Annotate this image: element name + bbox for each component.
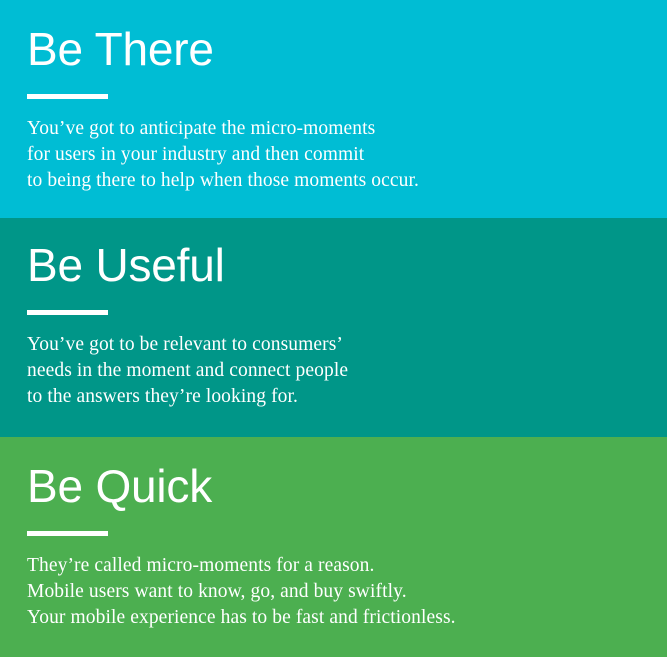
body-line: Your mobile experience has to be fast an… <box>27 605 667 631</box>
panel-be-useful: Be Useful You’ve got to be relevant to c… <box>0 218 667 437</box>
body-line: for users in your industry and then comm… <box>27 142 667 168</box>
body-line: You’ve got to anticipate the micro-momen… <box>27 116 667 142</box>
panel-be-quick-heading: Be Quick <box>27 437 667 509</box>
body-line: Mobile users want to know, go, and buy s… <box>27 579 667 605</box>
panel-be-useful-heading: Be Useful <box>27 218 667 288</box>
micro-moments-principles: Be There You’ve got to anticipate the mi… <box>0 0 667 657</box>
body-line: You’ve got to be relevant to consumers’ <box>27 332 667 358</box>
panel-be-there-body: You’ve got to anticipate the micro-momen… <box>27 99 667 194</box>
body-line: to the answers they’re looking for. <box>27 384 667 410</box>
body-line: They’re called micro-moments for a reaso… <box>27 553 667 579</box>
panel-be-quick: Be Quick They’re called micro-moments fo… <box>0 437 667 657</box>
panel-be-there: Be There You’ve got to anticipate the mi… <box>0 0 667 218</box>
body-line: to being there to help when those moment… <box>27 168 667 194</box>
panel-be-quick-body: They’re called micro-moments for a reaso… <box>27 536 667 631</box>
panel-be-there-heading: Be There <box>27 0 667 72</box>
panel-be-useful-body: You’ve got to be relevant to consumers’ … <box>27 315 667 410</box>
body-line: needs in the moment and connect people <box>27 358 667 384</box>
